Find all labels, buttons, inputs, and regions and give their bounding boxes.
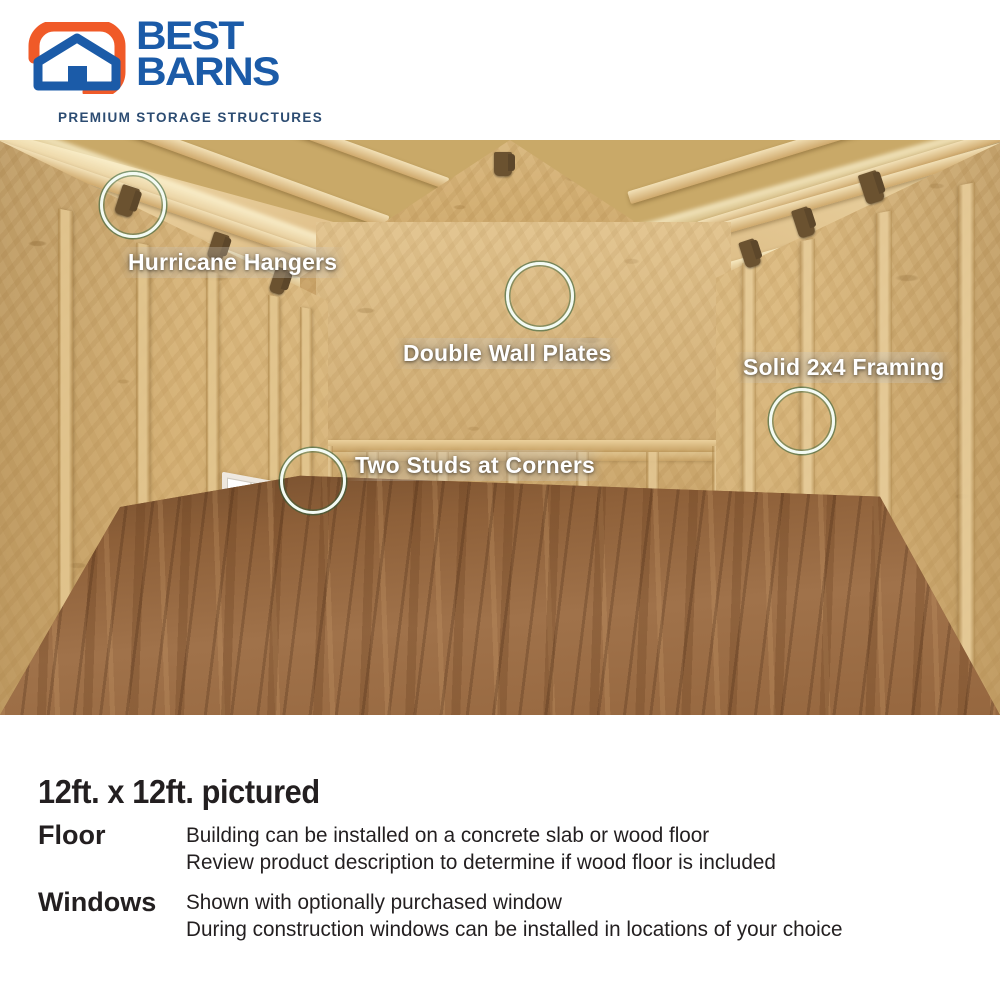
annotation-label-solid-2x4-framing: Solid 2x4 Framing — [733, 352, 955, 383]
barn-house-logo-mark — [28, 22, 126, 94]
spec-line: During construction windows can be insta… — [186, 916, 843, 943]
annotation-label-double-wall-plates: Double Wall Plates — [393, 338, 622, 369]
brand-logo[interactable]: BEST BARNS PREMIUM STORAGE STRUCTURES — [28, 22, 284, 118]
brand-word-barns: BARNS — [136, 54, 306, 90]
annotation-circle-double-wall-plates — [506, 262, 574, 330]
annotation-circle-solid-2x4-framing — [769, 388, 835, 454]
annotation-circle-hurricane-hangers — [100, 172, 166, 238]
spec-section: 12ft. x 12ft. pictured Floor Building ca… — [0, 715, 1000, 1000]
brand-wordmark: BEST BARNS — [136, 18, 296, 90]
hurricane-hanger-bracket — [494, 152, 512, 176]
annotation-label-two-studs-at-corners: Two Studs at Corners — [345, 450, 605, 481]
page-header: BEST BARNS PREMIUM STORAGE STRUCTURES — [0, 0, 1000, 140]
spec-line: Shown with optionally purchased window — [186, 889, 843, 916]
wall-stud — [958, 182, 975, 671]
annotation-label-hurricane-hangers: Hurricane Hangers — [118, 247, 347, 278]
brand-tagline: PREMIUM STORAGE STRUCTURES — [58, 110, 323, 125]
spec-values-windows: Shown with optionally purchased window D… — [186, 889, 853, 943]
spec-title: 12ft. x 12ft. pictured — [38, 773, 320, 811]
spec-key-windows: Windows — [38, 887, 156, 918]
brand-word-best: BEST — [136, 18, 306, 54]
spec-values-floor: Building can be installed on a concrete … — [186, 822, 785, 876]
shed-interior-photo: Hurricane Hangers Double Wall Plates Sol… — [0, 140, 1000, 715]
spec-key-floor: Floor — [38, 820, 106, 851]
annotation-circle-two-studs-at-corners — [280, 448, 346, 514]
spec-line: Building can be installed on a concrete … — [186, 822, 776, 849]
spec-line: Review product description to determine … — [186, 849, 776, 876]
